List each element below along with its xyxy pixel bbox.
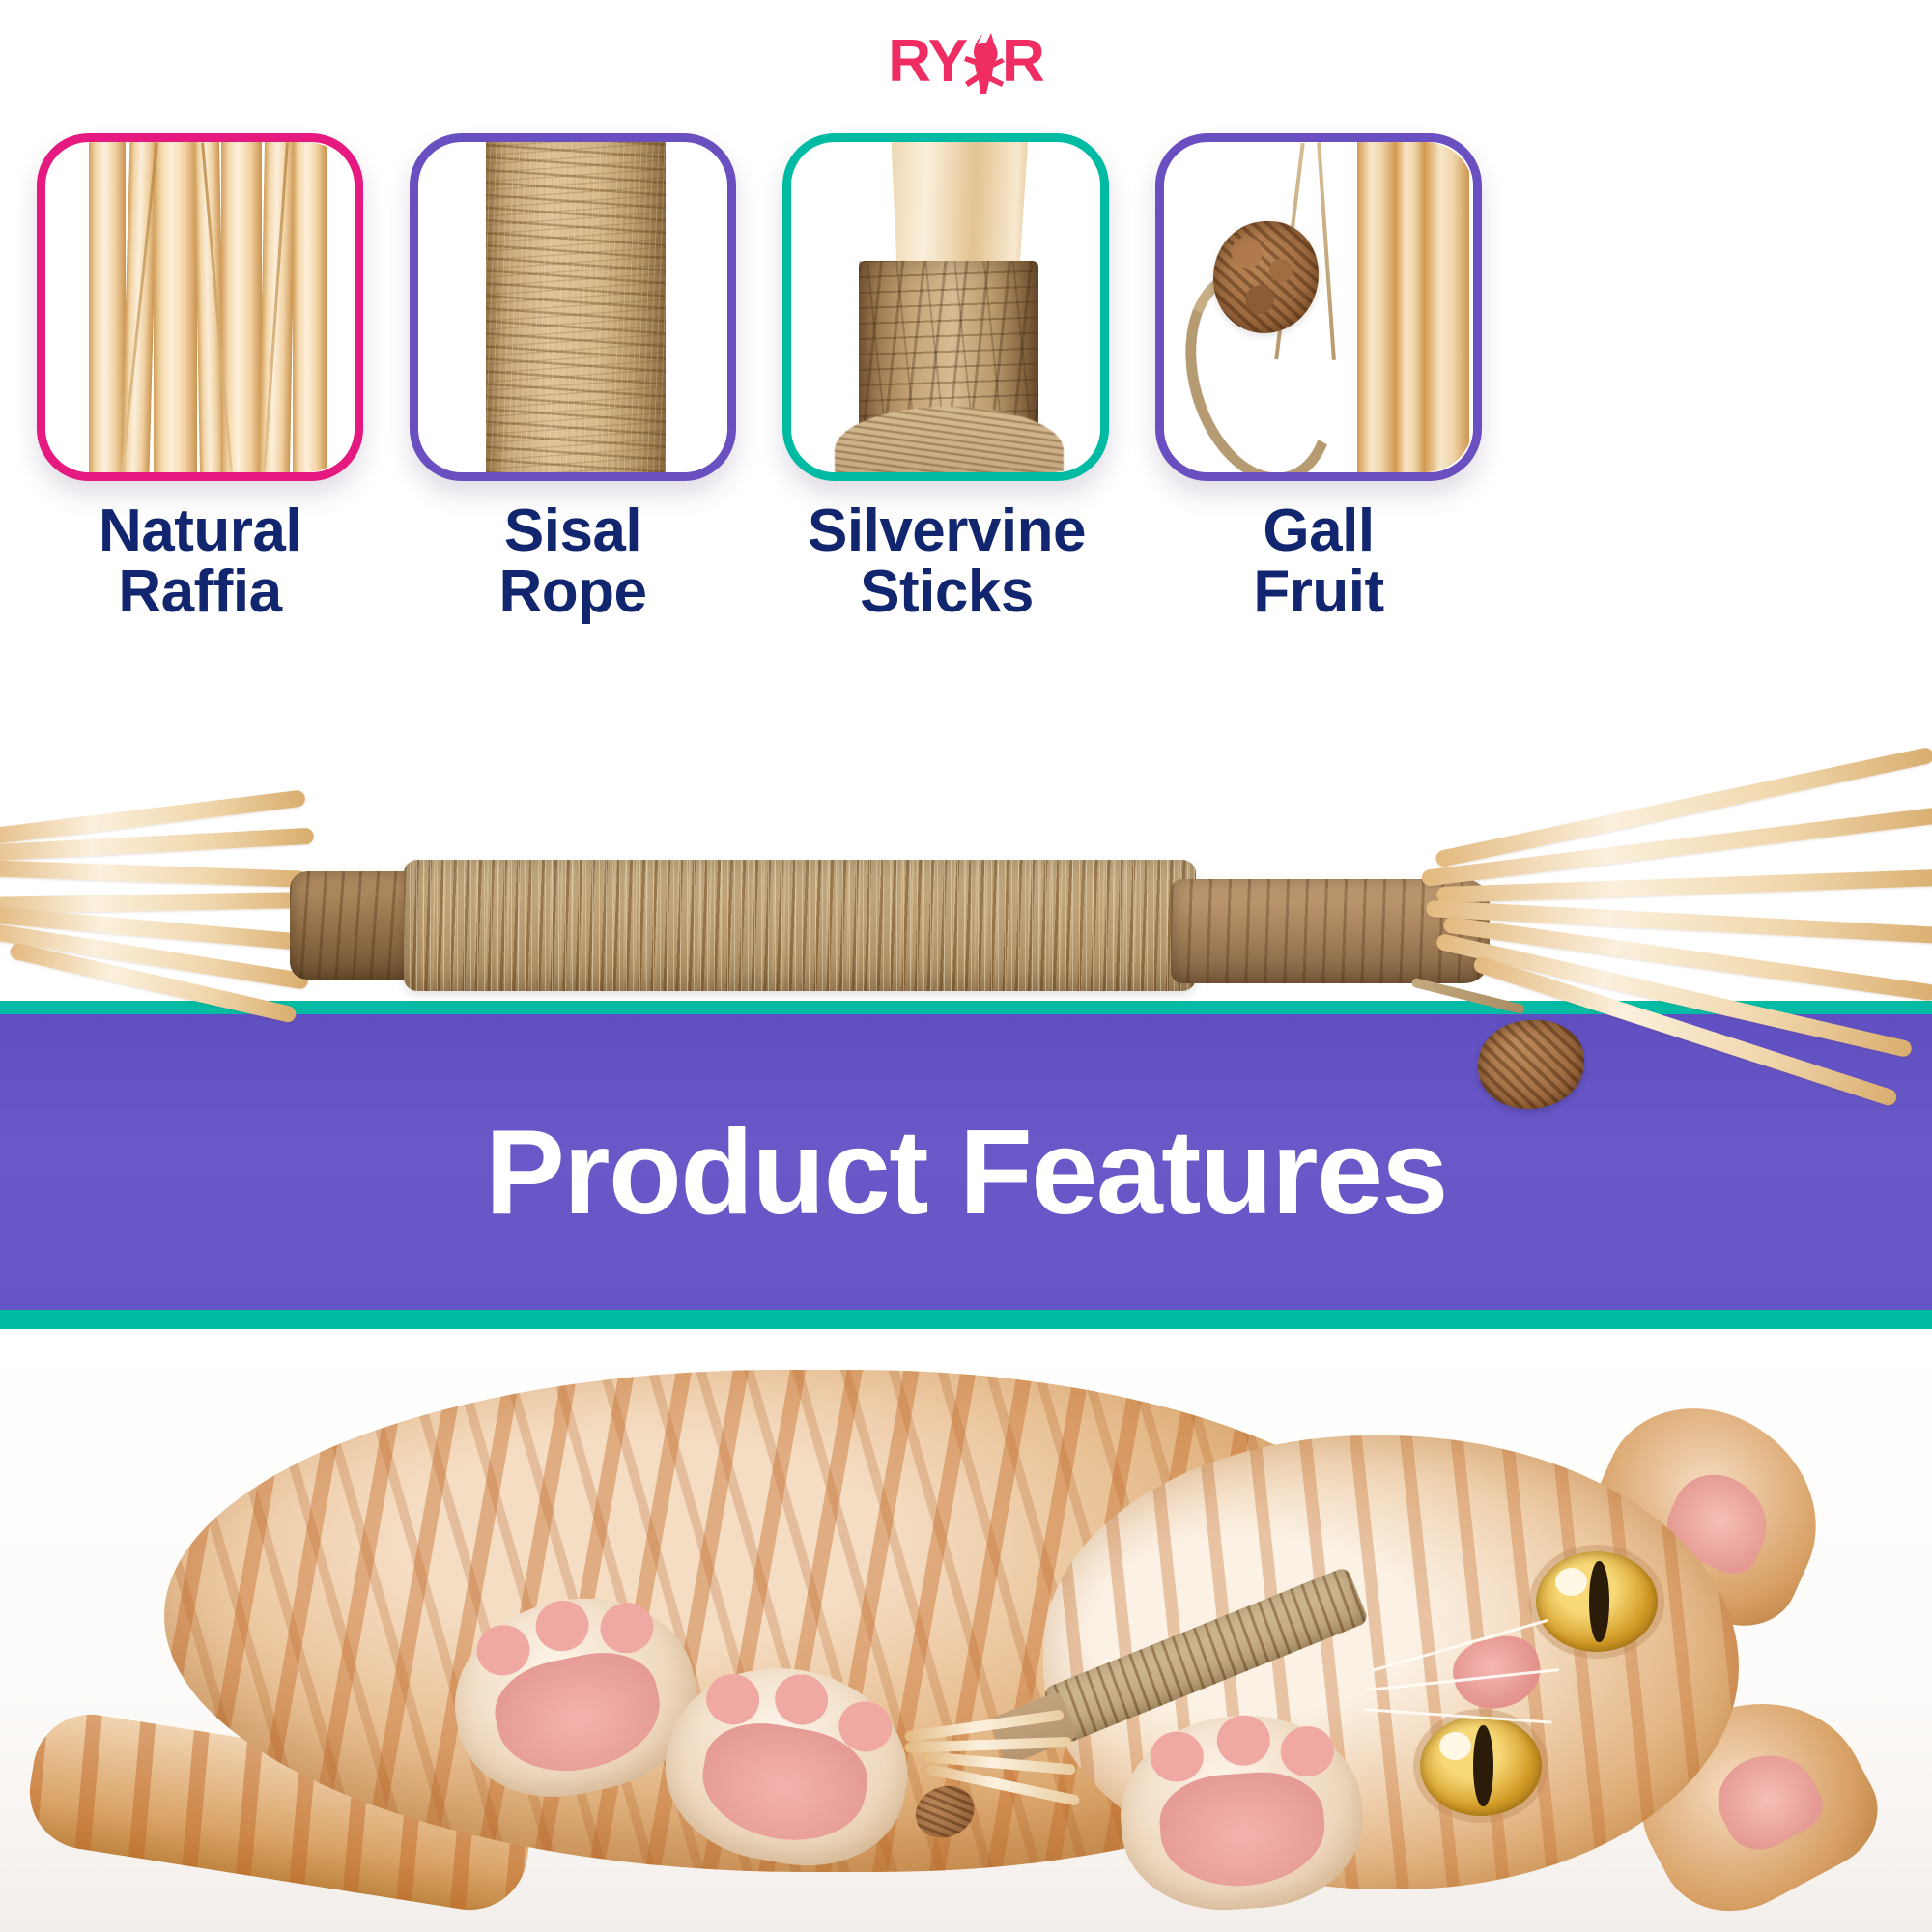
label-line-1: Natural (99, 497, 301, 564)
feature-label-row: Natural Raffia Sisal Rope Silvervine Sti… (0, 500, 1932, 674)
feature-card-gall-fruit[interactable] (1155, 133, 1482, 481)
natural-raffia-photo (45, 142, 355, 472)
gall-fruit-photo (1164, 142, 1473, 472)
raffia-tassel-left (0, 792, 328, 1014)
label-line-1: Silvervine (808, 497, 1086, 564)
banner-accent-line-bottom (0, 1310, 1932, 1329)
label-gall-fruit: Gall Fruit (1155, 500, 1482, 622)
cat-eye (1536, 1551, 1658, 1652)
logo-text-left: RY (888, 32, 967, 92)
infographic-canvas: RY R (0, 0, 1932, 1932)
silvervine-stick-photo (791, 142, 1100, 472)
cat-eye (1420, 1716, 1542, 1816)
feature-card-silvervine-sticks[interactable] (782, 133, 1109, 481)
feature-card-row (0, 133, 1932, 481)
logo-text-right: R (1002, 32, 1044, 92)
label-line-2: Fruit (1155, 561, 1482, 622)
label-line-1: Sisal (504, 497, 641, 564)
brand-logo: RY R (0, 27, 1932, 97)
label-sisal-rope: Sisal Rope (410, 500, 736, 622)
raffia-tassel-right (1420, 782, 1932, 1063)
label-line-2: Sticks (753, 561, 1140, 622)
silvervine-bark-left (290, 871, 415, 980)
label-silvervine-sticks: Silvervine Sticks (753, 500, 1140, 622)
banner-title: Product Features (0, 1113, 1932, 1233)
feature-card-sisal-rope[interactable] (410, 133, 736, 481)
lifestyle-photo-cat (0, 1329, 1932, 1932)
feature-card-natural-raffia[interactable] (37, 133, 363, 481)
label-natural-raffia: Natural Raffia (37, 500, 363, 622)
product-toy-photo (0, 792, 1932, 1082)
label-line-2: Rope (410, 561, 736, 622)
cat-silhouette-icon (963, 32, 1006, 96)
label-line-1: Gall (1263, 497, 1374, 564)
sisal-rope-photo (418, 142, 727, 472)
label-line-2: Raffia (37, 561, 363, 622)
sisal-rope-wrap (404, 860, 1196, 991)
toy-core (290, 856, 1488, 991)
